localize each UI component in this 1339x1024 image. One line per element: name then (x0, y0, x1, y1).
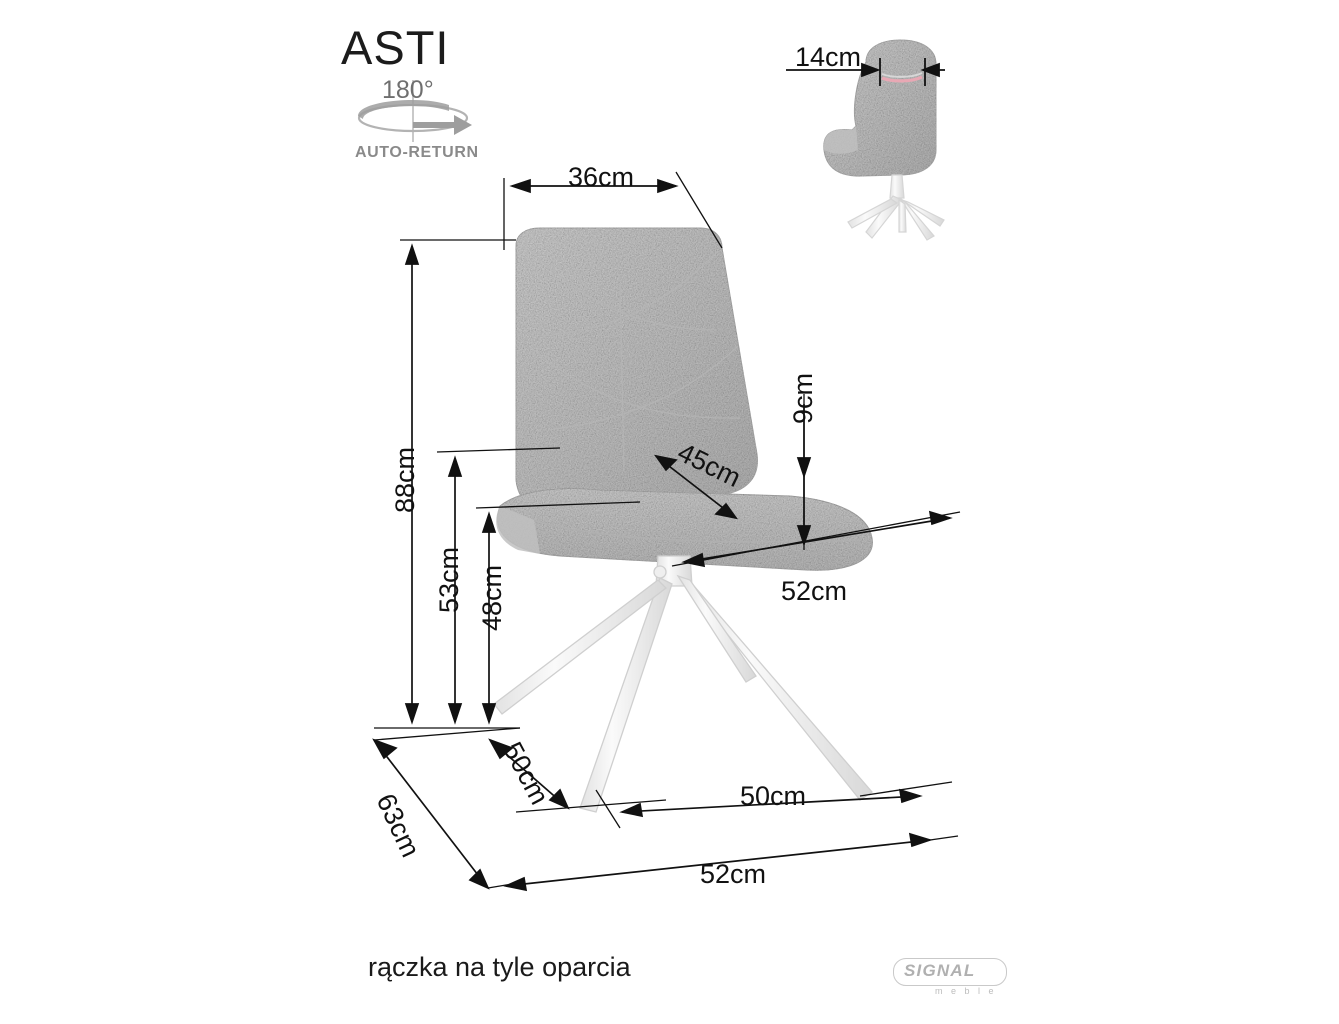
dim-label-53cm: 53cm (436, 547, 463, 613)
drawing-sheet: ASTI 180° AUTO-RETURN (0, 0, 1339, 1024)
dim-label-88cm: 88cm (392, 447, 419, 513)
logo-subtitle: m e b l e (935, 986, 997, 996)
dim-label-48cm: 48cm (479, 565, 506, 631)
main-chair-graphic (0, 0, 1339, 1024)
dim-label-36cm: 36cm (568, 164, 634, 191)
logo-wordmark: SIGNAL (904, 961, 975, 981)
dim-label-52cm-depth: 52cm (781, 578, 847, 605)
caption-text: rączka na tyle oparcia (368, 952, 631, 983)
brand-logo: SIGNAL m e b l e (893, 958, 1015, 1000)
dim-label-50cm-base-width: 50cm (740, 783, 806, 810)
dim-label-14cm: 14cm (795, 44, 861, 71)
dim-label-52cm-floor-width: 52cm (700, 861, 766, 888)
dim-label-9cm: 9cm (790, 373, 817, 424)
